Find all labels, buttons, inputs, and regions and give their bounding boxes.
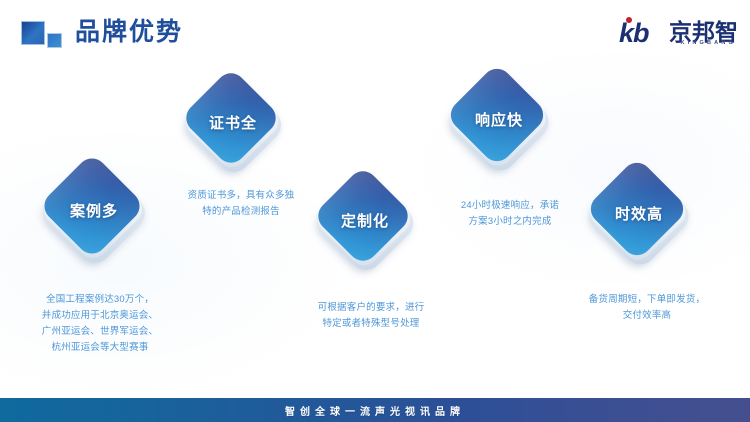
logo-latin-name: KINGBANG <box>680 40 736 46</box>
diamond-face[interactable] <box>585 157 690 262</box>
feature-caption: 备货周期短，下单即发货，交付效率高 <box>571 292 723 324</box>
feature-caption: 资质证书多，具有众多独特的产品检测报告 <box>176 188 306 220</box>
logo-mark-icon: kb <box>617 17 671 47</box>
slide-header: 品牌优势 kb 京邦智 KINGBANG <box>0 0 750 60</box>
page-title: 品牌优势 <box>75 15 183 49</box>
footer-slogan: 智创全球一流声光视讯品牌 <box>285 403 465 418</box>
logo-mark-text: kb <box>619 20 649 46</box>
diamond-face[interactable] <box>180 67 282 169</box>
feature-caption: 24小时极速响应，承诺方案3小时之内完成 <box>441 198 579 230</box>
decorative-square-large-icon <box>21 21 45 45</box>
slide-root: 品牌优势 kb 京邦智 KINGBANG 案例多 全国工程案例达30万个，并成功… <box>0 0 750 422</box>
diamond-face[interactable] <box>312 165 414 267</box>
diamond-face[interactable] <box>38 152 145 259</box>
slide-footer: 智创全球一流声光视讯品牌 <box>0 398 750 422</box>
feature-caption: 全国工程案例达30万个，并成功应用于北京奥运会、广州亚运会、世界军运会、杭州亚运… <box>16 292 184 356</box>
diamond-face[interactable] <box>445 63 550 168</box>
feature-caption: 可根据客户的要求，进行特定或者特殊型号处理 <box>306 300 436 332</box>
decorative-square-small-icon <box>47 33 62 48</box>
brand-logo: kb 京邦智 KINGBANG <box>617 16 738 48</box>
